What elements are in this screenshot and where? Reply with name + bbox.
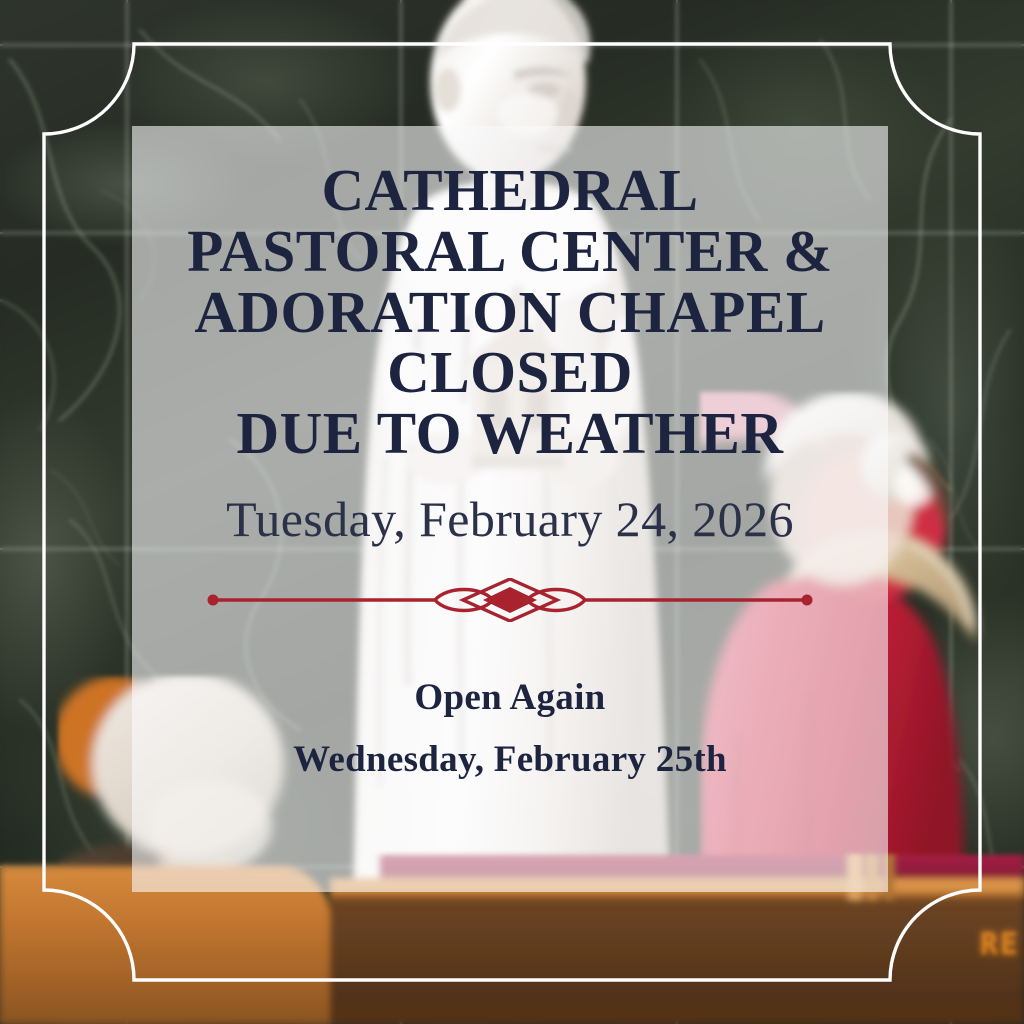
reopen-label: Open Again [293, 672, 727, 725]
headline-line-2: Pastoral Center & [132, 221, 888, 282]
reopen-date: Wednesday, February 25th [293, 734, 727, 787]
closure-date: Tuesday, February 24, 2026 [226, 490, 794, 548]
diamond-flourish-divider [185, 578, 835, 622]
notice-content: Cathedral Pastoral Center & Adoration Ch… [132, 126, 888, 892]
headline-line-5: Due To Weather [132, 403, 888, 464]
headline-line-3: Adoration Chapel [132, 282, 888, 343]
headline-line-4: Closed [132, 342, 888, 403]
reopen-block: Open Again Wednesday, February 25th [293, 672, 727, 787]
poster-canvas: RE Cathedral Pastoral Center & Adoration… [0, 0, 1024, 1024]
headline-block: Cathedral Pastoral Center & Adoration Ch… [132, 160, 888, 464]
headline-line-1: Cathedral [132, 160, 888, 221]
